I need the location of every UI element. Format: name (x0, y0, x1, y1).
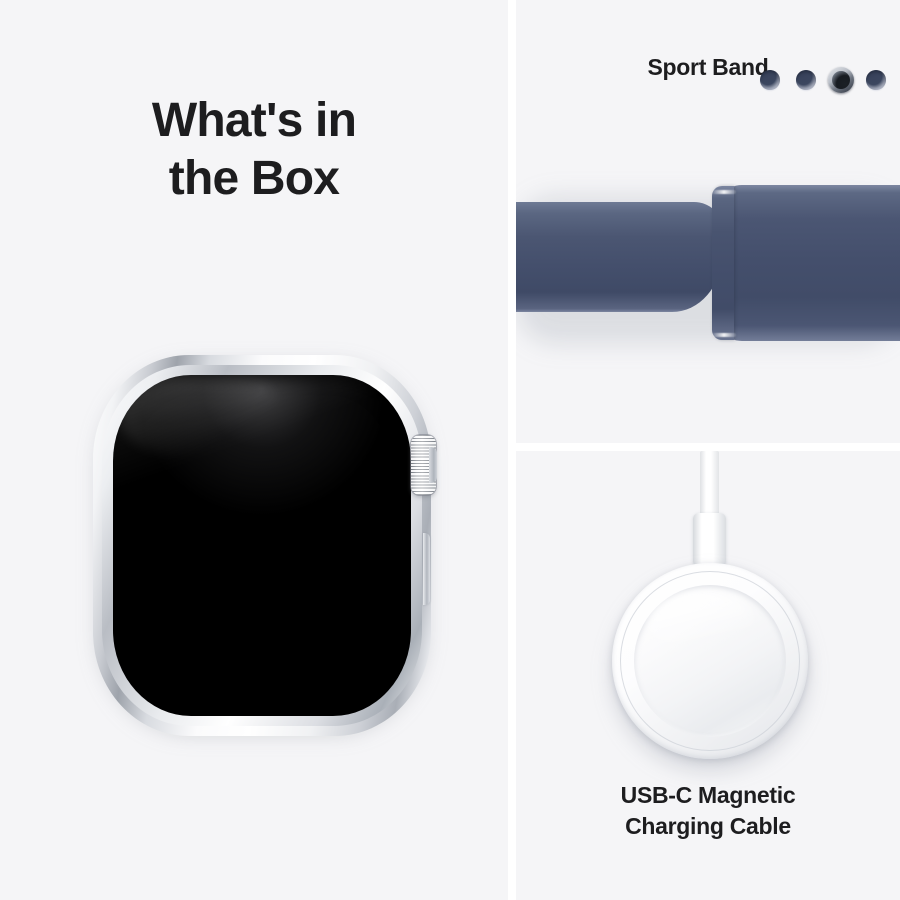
side-button (423, 533, 430, 605)
apple-watch-image (93, 355, 431, 736)
band-keeper-loop (712, 186, 734, 340)
watch-glass-glare (119, 377, 289, 455)
cable-strain-relief (693, 513, 726, 567)
band-keeper-notch-bottom (712, 333, 736, 337)
panel-sport-band: Sport Band (516, 0, 900, 443)
page-title: What's in the Box (0, 92, 508, 208)
panel-charging-cable: USB-C Magnetic Charging Cable (516, 451, 900, 900)
band-hole (796, 70, 816, 90)
charging-cable-caption: USB-C Magnetic Charging Cable (516, 780, 900, 842)
band-keeper-notch-top (712, 190, 736, 194)
panel-whats-in-the-box: What's in the Box (0, 0, 508, 900)
band-pin-hole (828, 67, 854, 93)
band-hole (866, 70, 886, 90)
band-strap (712, 185, 900, 341)
sport-band-image (516, 0, 900, 443)
digital-crown-cap (429, 447, 437, 483)
charging-puck-gloss (646, 591, 756, 653)
product-collage: What's in the Box Sport Band (0, 0, 900, 900)
band-hole (760, 70, 780, 90)
